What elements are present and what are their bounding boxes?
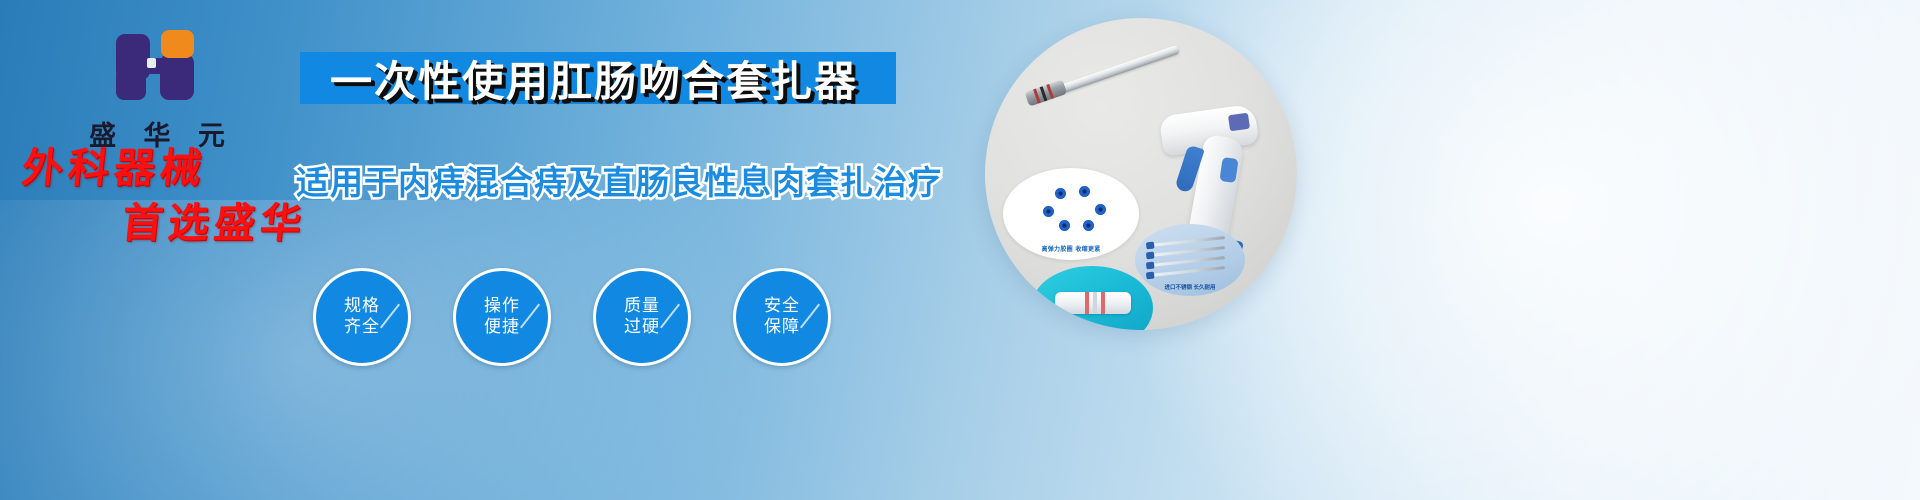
feature-2-line-2: 便捷 <box>484 317 520 338</box>
page-title: 一次性使用肛肠吻合套扎器 <box>330 48 930 109</box>
rings-inset-caption: 高弹力胶圈 收缩更紧 <box>1003 244 1139 253</box>
page-subtitle: 适用于内痔混合痔及直肠良性息肉套扎治疗 <box>296 156 936 204</box>
feature-3-line-1: 质量 <box>624 296 660 317</box>
needles-inset: 进口不锈钢 长久耐用 <box>1135 224 1245 296</box>
rubber-rings-inset: 高弹力胶圈 收缩更紧 <box>1003 168 1139 260</box>
tube-inset <box>1031 266 1153 330</box>
device-keypad <box>1228 113 1250 132</box>
product-photo[interactable]: 高弹力胶圈 收缩更紧 进口不锈钢 长久耐用 <box>985 18 1297 330</box>
shenghuayuan-h-logo-icon <box>114 28 200 108</box>
feature-badge-1[interactable]: 规格 齐全 <box>313 268 411 366</box>
slash-decoration-icon <box>800 304 820 329</box>
tube-cartridge <box>1055 292 1131 314</box>
feature-1-line-2: 齐全 <box>344 317 380 338</box>
slash-decoration-icon <box>520 304 540 329</box>
red-slogan: 外科器械 首选盛华 <box>14 148 344 244</box>
device-tip <box>1025 79 1068 106</box>
feature-1-line-1: 规格 <box>344 296 380 317</box>
slash-decoration-icon <box>380 304 400 329</box>
feature-badge-2[interactable]: 操作 便捷 <box>453 268 551 366</box>
feature-badge-4[interactable]: 安全 保障 <box>733 268 831 366</box>
feature-4-line-1: 安全 <box>764 296 800 317</box>
feature-4-line-2: 保障 <box>764 317 800 338</box>
feature-2-line-1: 操作 <box>484 296 520 317</box>
needles-inset-caption: 进口不锈钢 长久耐用 <box>1135 283 1245 291</box>
slogan-line-2: 首选盛华 <box>120 203 346 244</box>
brand-logo[interactable]: 盛 华 元 <box>62 28 252 153</box>
device-button <box>1219 157 1238 183</box>
feature-list: 规格 齐全 操作 便捷 质量 过硬 安全 保障 <box>313 268 831 366</box>
promo-banner: 盛 华 元 外科器械 首选盛华 一次性使用肛肠吻合套扎器 适用于内痔混合痔及直肠… <box>0 0 1920 500</box>
slash-decoration-icon <box>660 304 680 329</box>
feature-3-line-2: 过硬 <box>624 317 660 338</box>
feature-badge-3[interactable]: 质量 过硬 <box>593 268 691 366</box>
